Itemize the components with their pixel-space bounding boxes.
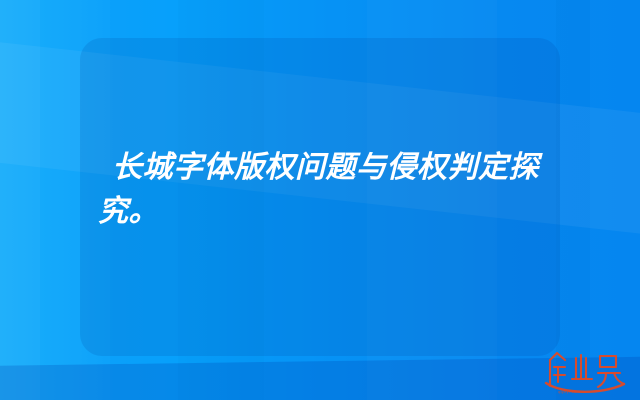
banner-image: 长城字体版权问题与侵权判定探究。: [0, 0, 640, 400]
content-card: 长城字体版权问题与侵权判定探究。: [80, 38, 560, 356]
brand-logo-icon: [536, 346, 632, 398]
background-strip-5: [556, 0, 590, 400]
watermark-subtext: qiyeyi.com: [558, 389, 580, 394]
background-strip-1: [0, 0, 40, 400]
headline-text: 长城字体版权问题与侵权判定探究。: [98, 146, 552, 234]
